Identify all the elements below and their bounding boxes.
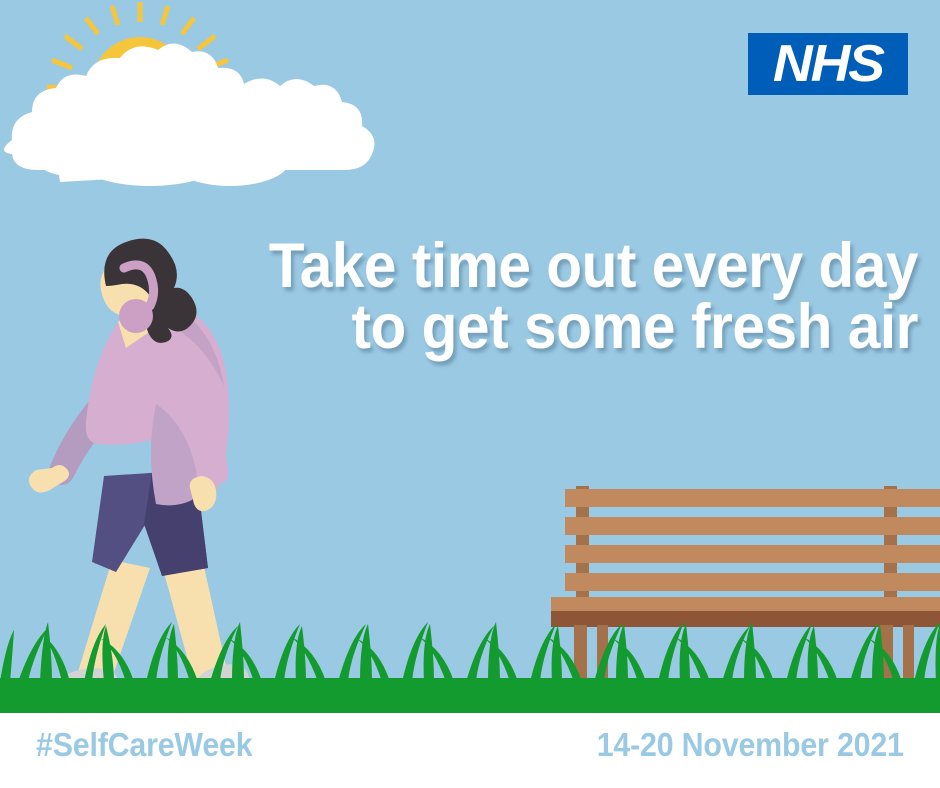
poster: NHS Take time out every day to get some … [0,0,940,788]
nhs-logo-text: NHS [773,38,883,90]
campaign-dates: 14-20 November 2021 [597,726,904,764]
headline-line-1: Take time out every day [211,236,918,297]
walker-headphone-earcup [119,299,153,333]
headline-line-2: to get some fresh air [211,297,918,358]
campaign-hashtag: #SelfCareWeek [36,726,252,764]
page-title: Take time out every day to get some fres… [211,236,918,358]
bench-slat [565,489,940,507]
nhs-logo: NHS [748,33,908,95]
bench-slat [565,573,940,591]
bench-slat [565,517,940,535]
illustration-scene: NHS Take time out every day to get some … [0,0,940,713]
bench-slat [565,545,940,563]
